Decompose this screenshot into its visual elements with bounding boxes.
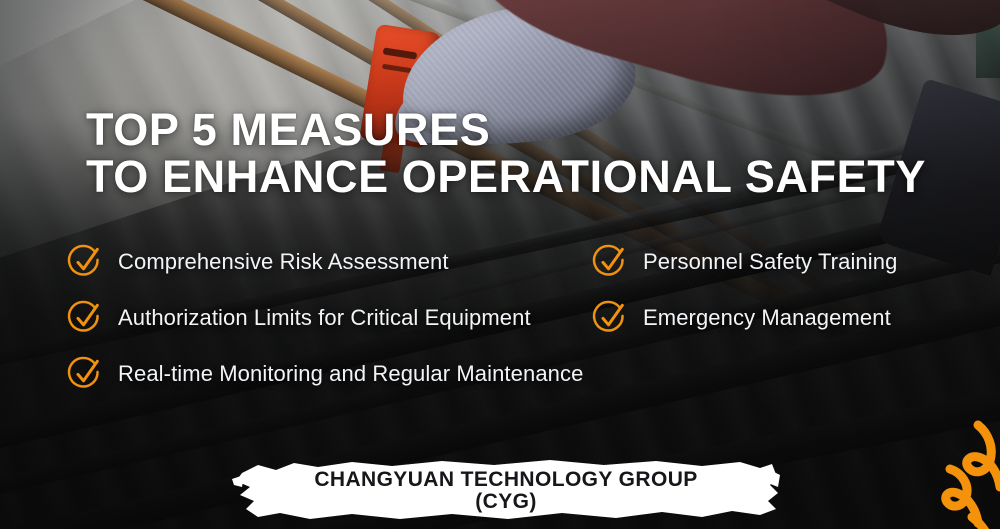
- list-item-label: Emergency Management: [643, 305, 891, 331]
- safety-poster: TOP 5 MEASURES TO ENHANCE OPERATIONAL SA…: [0, 0, 1000, 529]
- list-item: Authorization Limits for Critical Equipm…: [66, 299, 591, 337]
- check-circle-icon: [66, 355, 104, 393]
- orange-brush-scribble-icon: [916, 417, 1000, 529]
- list-item-label: Comprehensive Risk Assessment: [118, 249, 449, 275]
- list-item: Personnel Safety Training: [591, 243, 946, 281]
- company-name-line-1: CHANGYUAN TECHNOLOGY GROUP: [314, 469, 697, 491]
- poster-content: TOP 5 MEASURES TO ENHANCE OPERATIONAL SA…: [0, 0, 1000, 529]
- list-item: Emergency Management: [591, 299, 946, 337]
- list-item-label: Personnel Safety Training: [643, 249, 897, 275]
- measures-list: Comprehensive Risk Assessment Personnel …: [66, 234, 946, 402]
- list-item-label: Real-time Monitoring and Regular Mainten…: [118, 361, 583, 387]
- list-item-label: Authorization Limits for Critical Equipm…: [118, 305, 531, 331]
- check-circle-icon: [591, 299, 629, 337]
- list-item: Comprehensive Risk Assessment: [66, 243, 591, 281]
- company-banner: CHANGYUAN TECHNOLOGY GROUP (CYG): [232, 457, 780, 523]
- check-circle-icon: [66, 299, 104, 337]
- company-banner-text: CHANGYUAN TECHNOLOGY GROUP (CYG): [232, 457, 780, 523]
- company-name-line-2: (CYG): [475, 491, 537, 513]
- page-title: TOP 5 MEASURES TO ENHANCE OPERATIONAL SA…: [86, 106, 926, 200]
- headline-line-1: TOP 5 MEASURES: [86, 106, 926, 153]
- list-item: Real-time Monitoring and Regular Mainten…: [66, 355, 591, 393]
- headline-line-2: TO ENHANCE OPERATIONAL SAFETY: [86, 153, 926, 200]
- check-circle-icon: [591, 243, 629, 281]
- check-circle-icon: [66, 243, 104, 281]
